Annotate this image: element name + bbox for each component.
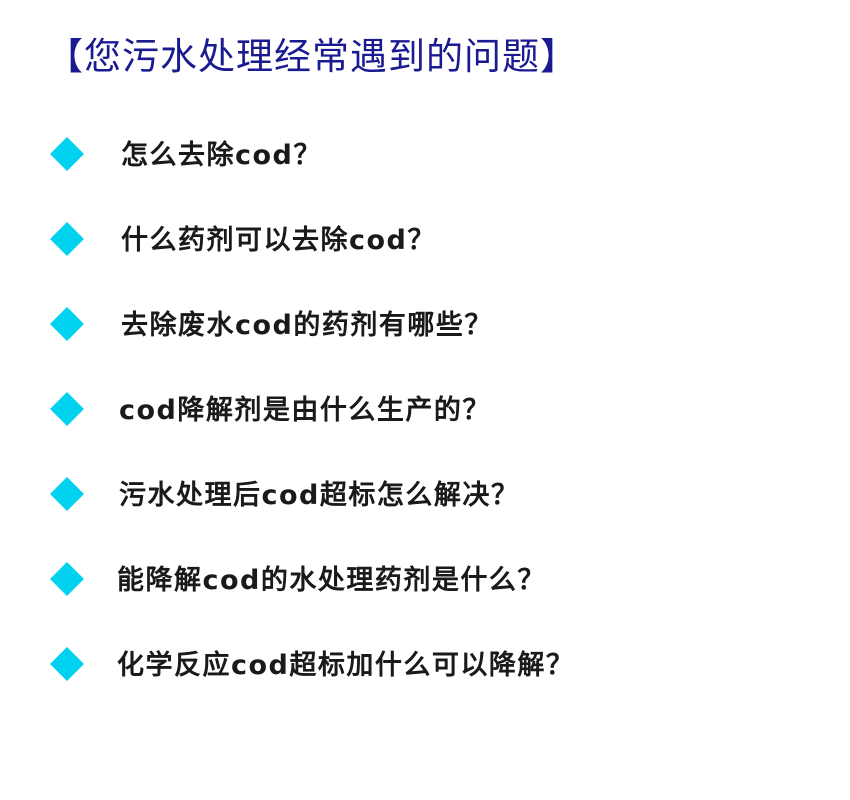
list-item[interactable]: 怎么去除cod？ [0, 134, 850, 219]
list-item[interactable]: 去除废水cod的药剂有哪些？ [0, 304, 850, 389]
list-item[interactable]: 什么药剂可以去除cod？ [0, 219, 850, 304]
diamond-icon [50, 137, 84, 171]
diamond-icon [50, 647, 84, 681]
diamond-icon [50, 392, 84, 426]
list-item-label: 污水处理后cod超标怎么解决？ [119, 476, 519, 516]
bullet-list: 怎么去除cod？ 什么药剂可以去除cod？ 去除废水cod的药剂有哪些？ cod… [0, 134, 850, 729]
diamond-icon [50, 477, 84, 511]
list-item[interactable]: 化学反应cod超标加什么可以降解？ [0, 644, 850, 729]
list-item[interactable]: 能降解cod的水处理药剂是什么？ [0, 559, 850, 644]
diamond-icon [50, 307, 84, 341]
list-item-label: 能降解cod的水处理药剂是什么？ [117, 561, 546, 601]
list-item-label: 去除废水cod的药剂有哪些？ [121, 306, 493, 346]
page-title: 【您污水处理经常遇到的问题】 [46, 33, 578, 81]
list-item-label: 什么药剂可以去除cod？ [121, 221, 436, 261]
list-item[interactable]: 污水处理后cod超标怎么解决？ [0, 474, 850, 559]
diamond-icon [50, 222, 84, 256]
diamond-icon [50, 562, 84, 596]
list-item[interactable]: cod降解剂是由什么生产的？ [0, 389, 850, 474]
list-item-label: 怎么去除cod？ [121, 136, 322, 176]
presentation-slide: 【您污水处理经常遇到的问题】 怎么去除cod？ 什么药剂可以去除cod？ 去除废… [0, 0, 850, 800]
list-item-label: cod降解剂是由什么生产的？ [119, 391, 491, 431]
list-item-label: 化学反应cod超标加什么可以降解？ [117, 646, 574, 686]
